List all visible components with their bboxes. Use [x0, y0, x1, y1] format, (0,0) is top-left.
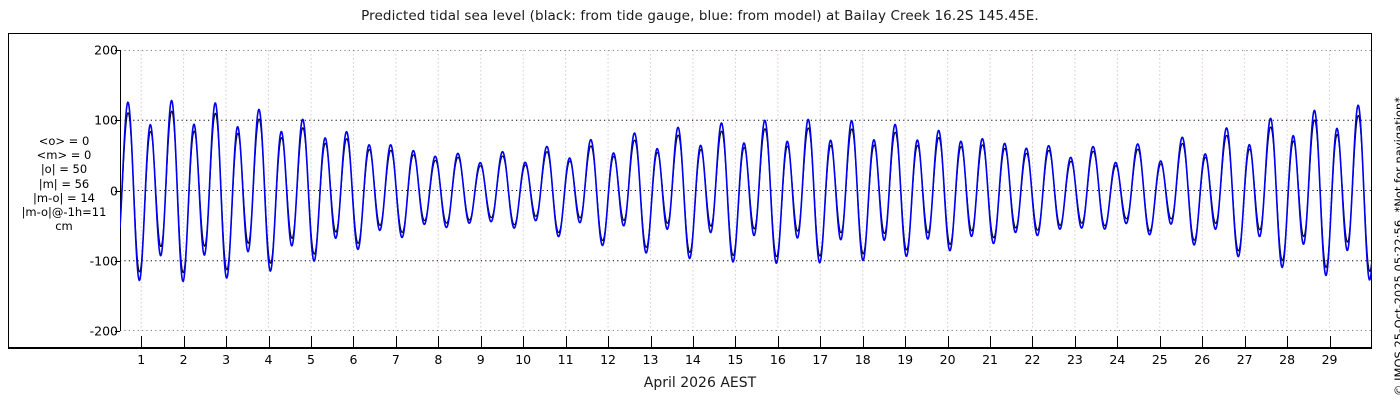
- x-axis-tick: [693, 336, 694, 348]
- tidal-chart-figure: Predicted tidal sea level (black: from t…: [0, 0, 1400, 400]
- plot-area: [120, 50, 1372, 331]
- x-axis-tick-label: 2: [180, 352, 188, 367]
- x-axis-tick-label: 10: [515, 352, 531, 367]
- x-axis-tick: [226, 336, 227, 348]
- x-axis-tick: [820, 336, 821, 348]
- tidal-series-plot: [120, 50, 1372, 331]
- x-axis-tick: [396, 336, 397, 348]
- x-axis-tick-label: 15: [727, 352, 743, 367]
- x-axis-tick: [523, 336, 524, 348]
- y-axis-tick: [115, 120, 120, 121]
- x-axis-tick-label: 19: [897, 352, 913, 367]
- x-axis-tick: [438, 336, 439, 348]
- x-axis-tick: [353, 336, 354, 348]
- x-axis-tick-label: 23: [1067, 352, 1083, 367]
- x-axis-tick-label: 11: [558, 352, 574, 367]
- page-title: Predicted tidal sea level (black: from t…: [0, 8, 1400, 24]
- x-axis-tick-label: 9: [477, 352, 485, 367]
- x-axis-tick-label: 17: [812, 352, 828, 367]
- x-axis-tick-label: 8: [434, 352, 442, 367]
- copyright-notice: © IMOS 25-Oct-2025 05:22:56. *Not for na…: [1392, 97, 1400, 396]
- x-axis-tick: [1032, 336, 1033, 348]
- x-axis-tick: [948, 336, 949, 348]
- x-axis-tick: [735, 336, 736, 348]
- x-axis-tick: [141, 336, 142, 348]
- y-axis-tick: [115, 331, 120, 332]
- x-axis-tick-label: 29: [1322, 352, 1338, 367]
- x-axis-spine: [8, 348, 1372, 349]
- x-axis-title: April 2026 AEST: [0, 375, 1400, 391]
- x-axis-tick: [990, 336, 991, 348]
- credit-container: © IMOS 25-Oct-2025 05:22:56. *Not for na…: [1379, 0, 1399, 400]
- x-axis-tick-label: 26: [1194, 352, 1210, 367]
- x-axis-tick-label: 21: [982, 352, 998, 367]
- x-axis-tick-label: 12: [600, 352, 616, 367]
- x-axis-tick: [863, 336, 864, 348]
- x-axis-tick-label: 16: [770, 352, 786, 367]
- x-axis-tick: [905, 336, 906, 348]
- x-axis-tick: [311, 336, 312, 348]
- x-axis-tick-label: 3: [222, 352, 230, 367]
- x-axis-tick-label: 18: [855, 352, 871, 367]
- x-axis-tick-label: 13: [643, 352, 659, 367]
- x-axis-tick-label: 4: [265, 352, 273, 367]
- x-axis-tick: [1330, 336, 1331, 348]
- y-axis-tick-label: -200: [90, 324, 118, 339]
- x-axis-tick: [608, 336, 609, 348]
- x-axis-tick-label: 28: [1279, 352, 1295, 367]
- x-axis-tick-label: 25: [1152, 352, 1168, 367]
- x-axis-tick: [1202, 336, 1203, 348]
- x-axis-tick-label: 22: [1025, 352, 1041, 367]
- x-axis-tick-label: 20: [940, 352, 956, 367]
- x-axis-tick: [1245, 336, 1246, 348]
- x-axis-tick: [1117, 336, 1118, 348]
- x-axis-tick: [1160, 336, 1161, 348]
- x-axis-tick-label: 24: [1109, 352, 1125, 367]
- x-axis-tick: [184, 336, 185, 348]
- x-axis-tick-label: 5: [307, 352, 315, 367]
- x-axis-tick-label: 1: [137, 352, 145, 367]
- x-axis-tick-label: 6: [349, 352, 357, 367]
- x-axis-tick: [1075, 336, 1076, 348]
- y-axis-labels: 2001000-100-200: [60, 50, 118, 331]
- y-axis-tick: [115, 261, 120, 262]
- y-axis-tick-label: -100: [90, 253, 118, 268]
- x-axis-tick: [778, 336, 779, 348]
- y-axis-tick: [115, 50, 120, 51]
- x-axis-tick: [566, 336, 567, 348]
- x-axis-tick-label: 14: [685, 352, 701, 367]
- x-axis-tick-label: 7: [392, 352, 400, 367]
- x-axis-tick: [651, 336, 652, 348]
- x-axis-tick: [481, 336, 482, 348]
- x-axis-tick: [1287, 336, 1288, 348]
- y-axis-tick: [115, 191, 120, 192]
- x-axis-tick-label: 27: [1237, 352, 1253, 367]
- x-axis-tick: [269, 336, 270, 348]
